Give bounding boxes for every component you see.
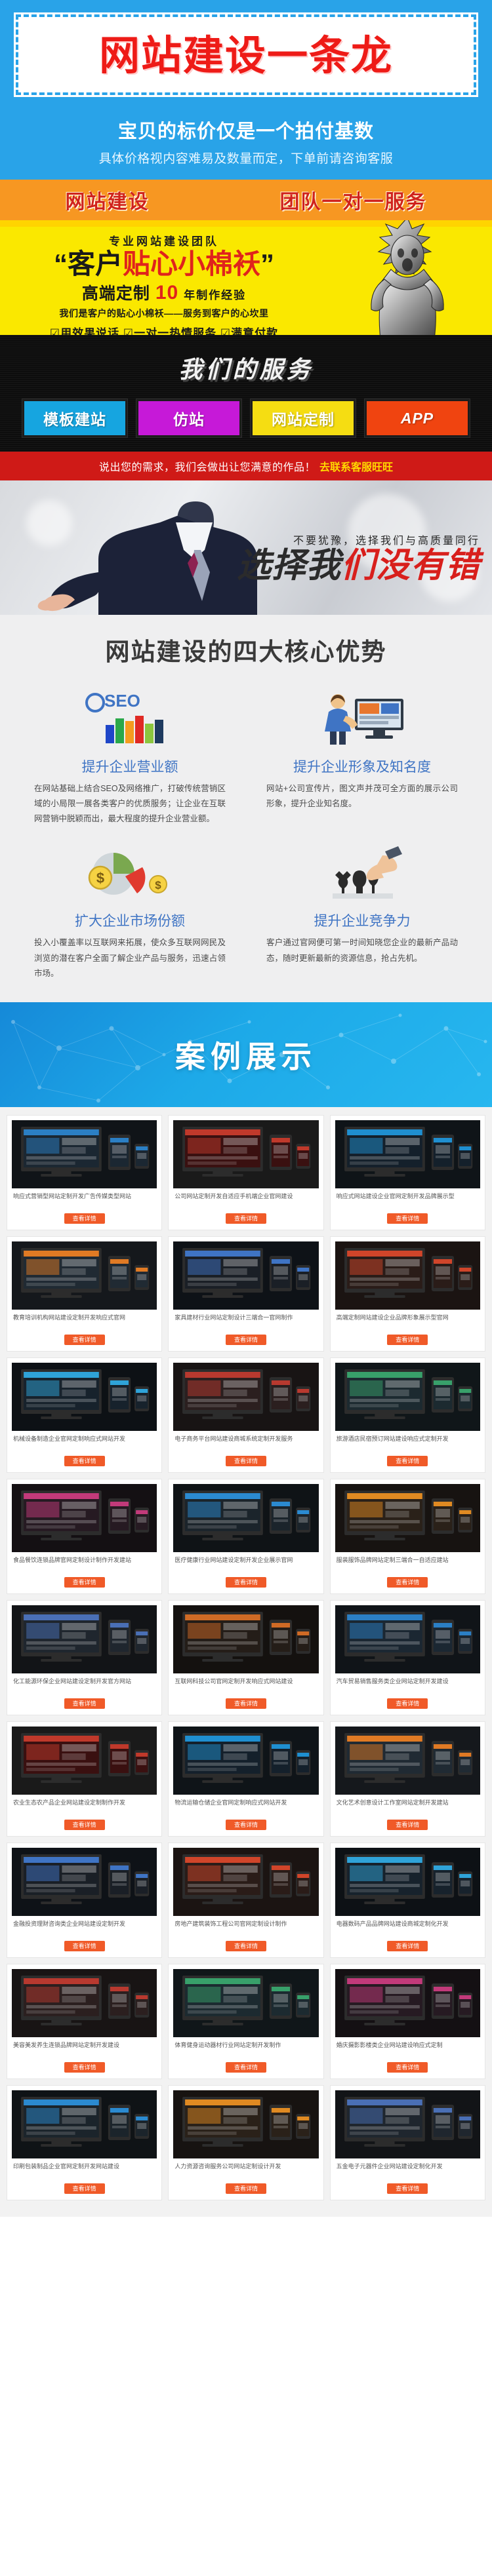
case-detail-button[interactable]: 查看详情 — [226, 1577, 266, 1588]
promo-page: 网站建设一条龙 宝贝的标价仅是一个拍付基数 具体价格视内容难易及数量而定，下单前… — [0, 0, 492, 2217]
promo-slogan-dark: 客户 — [68, 248, 123, 279]
case-screenshot — [12, 1848, 157, 1916]
case-description: 响应式营销型网站定制开发广告传媒类型网站 — [13, 1192, 155, 1209]
case-detail-button[interactable]: 查看详情 — [226, 1456, 266, 1466]
case-screenshot — [173, 1848, 318, 1916]
yellow-promo-section: 专业网站建设团队 “客户贴心小棉袄” 高端定制 10 年制作经验 我们是客户的贴… — [0, 220, 492, 335]
case-description: 家具建材行业网站定制设计三端合一官网制作 — [174, 1314, 317, 1331]
case-screenshot — [173, 2090, 318, 2158]
case-description: 教育培训机构网站建设定制开发响应式官网 — [13, 1314, 155, 1331]
case-row: 食品餐饮连锁品牌官网定制设计制作开发建站查看详情医疗健康行业网站建设定制开发企业… — [7, 1479, 485, 1594]
svg-text:$: $ — [155, 879, 161, 891]
monitor-person-icon — [249, 684, 475, 747]
advantages-section: 网站建设的四大核心优势 SEO 提升企业营业额 在网站基 — [0, 615, 492, 1002]
case-screenshot — [12, 1969, 157, 2037]
case-card[interactable]: 房地产建筑装饰工程公司官网定制设计制作查看详情 — [168, 1843, 323, 1958]
cta-strip: 说出您的需求，我们会做出让您满意的作品！ 去联系客服旺旺 — [0, 452, 492, 480]
case-card[interactable]: 医疗健康行业网站建设定制开发企业展示官网查看详情 — [168, 1479, 323, 1594]
case-card[interactable]: 汽车贸易销售服务类企业网站定制开发建设查看详情 — [330, 1600, 485, 1715]
cases-grid-section: 响应式营销型网站定制开发广告传媒类型网站查看详情公司网站定制开发自适应手机端企业… — [0, 1107, 492, 2217]
case-detail-button[interactable]: 查看详情 — [64, 1820, 105, 1830]
promo-slogan: “客户贴心小棉袄” — [26, 249, 302, 279]
case-description: 美容美发养生连锁品牌网站定制开发建设 — [13, 2041, 155, 2058]
promo-custom-label: 高端定制 — [82, 284, 150, 303]
case-screenshot — [12, 1241, 157, 1310]
case-description: 公司网站定制开发自适应手机端企业官网建设 — [174, 1192, 317, 1209]
cases-header: 案例展示 — [0, 1002, 492, 1107]
case-row: 农业生态农产品企业网站建设定制制作开发查看详情物流运输仓储企业官网定制响应式网站… — [7, 1721, 485, 1837]
case-detail-button[interactable]: 查看详情 — [64, 1335, 105, 1345]
hero-title: 选择我们没有错 — [172, 549, 480, 583]
case-description: 体育健身运动器材行业网站定制开发制作 — [174, 2041, 317, 2058]
promo-check-2: ☑一对一热情服务 — [123, 327, 216, 335]
case-detail-button[interactable]: 查看详情 — [64, 1698, 105, 1709]
case-description: 响应式网站建设企业官网定制开发品牌展示型 — [337, 1192, 479, 1209]
case-screenshot — [173, 1969, 318, 2037]
case-screenshot — [173, 1241, 318, 1310]
hero-banner: 不要犹豫，选择我们与高质量同行 选择我们没有错 — [0, 480, 492, 615]
case-card[interactable]: 高端定制网站建设企业品牌形象展示型官网查看详情 — [330, 1236, 485, 1352]
case-screenshot — [335, 1969, 480, 2037]
case-screenshot — [12, 1120, 157, 1188]
advantage-title: 提升企业竞争力 — [249, 910, 475, 930]
case-description: 五金电子元器件企业网站建设定制化开发 — [337, 2162, 479, 2179]
promo-years-number: 10 — [155, 282, 178, 303]
advantage-title: 提升企业形象及知名度 — [249, 756, 475, 776]
case-detail-button[interactable]: 查看详情 — [387, 1820, 428, 1830]
promo-quote-open: “ — [54, 248, 68, 279]
service-button-template[interactable]: 模板建站 — [22, 399, 127, 437]
feature-web-build: 网站建设 — [66, 185, 150, 214]
case-detail-button[interactable]: 查看详情 — [64, 2062, 105, 2073]
advantage-title: 提升企业营业额 — [17, 756, 243, 776]
advantage-item: SEO 提升企业营业额 在网站基础上结合SEO及网络推广，打破传统营销区域的小局… — [17, 684, 243, 827]
case-screenshot — [173, 1363, 318, 1431]
page-title: 网站建设一条龙 — [25, 34, 467, 77]
service-button-custom[interactable]: 网站定制 — [251, 399, 356, 437]
hero-title-red: 们没有错 — [341, 547, 480, 585]
svg-text:$: $ — [96, 870, 104, 886]
case-row: 化工能源环保企业网站建设定制开发官方网站查看详情互联网科技公司官网定制开发响应式… — [7, 1600, 485, 1715]
case-detail-button[interactable]: 查看详情 — [226, 1820, 266, 1830]
case-detail-button[interactable]: 查看详情 — [387, 1941, 428, 1951]
case-detail-button[interactable]: 查看详情 — [226, 1698, 266, 1709]
chess-hand-icon — [249, 838, 475, 901]
case-description: 房地产建筑装饰工程公司官网定制设计制作 — [174, 1920, 317, 1937]
feature-one-on-one: 团队一对一服务 — [280, 185, 427, 214]
promo-checklist: ☑用效果说话 ☑一对一热情服务 ☑满意付款 — [26, 324, 302, 335]
promo-years-label: 年制作经验 — [184, 289, 246, 302]
case-detail-button[interactable]: 查看详情 — [387, 1698, 428, 1709]
case-screenshot — [335, 2090, 480, 2158]
case-card[interactable]: 金融投资理财咨询类企业网站建设定制开发查看详情 — [7, 1843, 162, 1958]
case-card[interactable]: 互联网科技公司官网定制开发响应式网站建设查看详情 — [168, 1600, 323, 1715]
statue-of-liberty-icon — [345, 220, 470, 335]
case-description: 机械设备制造企业官网定制响应式网站开发 — [13, 1435, 155, 1452]
case-card[interactable]: 印刷包装制品企业官网定制开发网站建设查看详情 — [7, 2085, 162, 2200]
case-description: 电子商务平台网站建设商城系统定制开发服务 — [174, 1435, 317, 1452]
promo-team-label: 专业网站建设团队 — [26, 232, 302, 248]
cases-heading: 案例展示 — [175, 1033, 317, 1076]
case-screenshot — [12, 1727, 157, 1795]
case-detail-button[interactable]: 查看详情 — [64, 1456, 105, 1466]
case-detail-button[interactable]: 查看详情 — [226, 2183, 266, 2194]
case-description: 电器数码产品品牌网站建设商城定制化开发 — [337, 1920, 479, 1937]
case-screenshot — [173, 1484, 318, 1552]
advantages-heading: 网站建设的四大核心优势 — [0, 632, 492, 667]
case-detail-button[interactable]: 查看详情 — [64, 1213, 105, 1224]
case-card[interactable]: 文化艺术创意设计工作室网站定制开发建站查看详情 — [330, 1721, 485, 1837]
case-description: 旅游酒店民宿预订网站建设响应式定制开发 — [337, 1435, 479, 1452]
case-screenshot — [335, 1241, 480, 1310]
case-description: 服装服饰品牌网站定制三端合一自适应建站 — [337, 1556, 479, 1573]
case-card[interactable]: 电器数码产品品牌网站建设商城定制化开发查看详情 — [330, 1843, 485, 1958]
advantage-desc: 投入小覆盖率以互联网来拓展，使众多互联网网民及浏览的潜在客户全面了解企业产品与服… — [17, 935, 243, 981]
case-card[interactable]: 响应式网站建设企业官网定制开发品牌展示型查看详情 — [330, 1115, 485, 1230]
case-description: 化工能源环保企业网站建设定制开发官方网站 — [13, 1677, 155, 1694]
case-description: 婚庆摄影影楼类企业网站建设响应式定制 — [337, 2041, 479, 2058]
service-button-clone[interactable]: 仿站 — [136, 399, 241, 437]
case-screenshot — [12, 2090, 157, 2158]
seo-chart-icon: SEO — [17, 684, 243, 747]
services-heading: 我们的服务 — [0, 351, 492, 385]
case-card[interactable]: 机械设备制造企业官网定制响应式网站开发查看详情 — [7, 1357, 162, 1473]
case-card[interactable]: 婚庆摄影影楼类企业网站建设响应式定制查看详情 — [330, 1964, 485, 2079]
case-card[interactable]: 响应式营销型网站定制开发广告传媒类型网站查看详情 — [7, 1115, 162, 1230]
case-description: 互联网科技公司官网定制开发响应式网站建设 — [174, 1677, 317, 1694]
case-detail-button[interactable]: 查看详情 — [64, 1941, 105, 1951]
case-card[interactable]: 家具建材行业网站定制设计三端合一官网制作查看详情 — [168, 1236, 323, 1352]
orange-feature-bar: 网站建设 团队一对一服务 — [0, 180, 492, 220]
case-detail-button[interactable]: 查看详情 — [64, 2183, 105, 2194]
case-card[interactable]: 农业生态农产品企业网站建设定制制作开发查看详情 — [7, 1721, 162, 1837]
cta-contact-link[interactable]: 去联系客服旺旺 — [319, 458, 393, 474]
case-card[interactable]: 食品餐饮连锁品牌官网定制设计制作开发建站查看详情 — [7, 1479, 162, 1594]
case-description: 食品餐饮连锁品牌官网定制设计制作开发建站 — [13, 1556, 155, 1573]
promo-experience: 高端定制 10 年制作经验 — [26, 281, 302, 304]
case-screenshot — [12, 1605, 157, 1673]
case-detail-button[interactable]: 查看详情 — [387, 1577, 428, 1588]
money-pie-icon: $ $ — [17, 838, 243, 901]
advantages-grid: SEO 提升企业营业额 在网站基础上结合SEO及网络推广，打破传统营销区域的小局… — [0, 684, 492, 981]
case-description: 高端定制网站建设企业品牌形象展示型官网 — [337, 1314, 479, 1331]
case-detail-button[interactable]: 查看详情 — [226, 1941, 266, 1951]
case-detail-button[interactable]: 查看详情 — [226, 2062, 266, 2073]
advantage-item: 提升企业竞争力 客户通过官网便可第一时间知晓您企业的最新产品动态，随时更新最新的… — [249, 838, 475, 981]
case-card[interactable]: 电子商务平台网站建设商城系统定制开发服务查看详情 — [168, 1357, 323, 1473]
case-row: 教育培训机构网站建设定制开发响应式官网查看详情家具建材行业网站定制设计三端合一官… — [7, 1236, 485, 1352]
case-card[interactable]: 美容美发养生连锁品牌网站定制开发建设查看详情 — [7, 1964, 162, 2079]
case-screenshot — [173, 1727, 318, 1795]
case-row: 响应式营销型网站定制开发广告传媒类型网站查看详情公司网站定制开发自适应手机端企业… — [7, 1115, 485, 1230]
case-description: 物流运输仓储企业官网定制响应式网站开发 — [174, 1799, 317, 1816]
case-detail-button[interactable]: 查看详情 — [387, 2062, 428, 2073]
case-screenshot — [335, 1484, 480, 1552]
case-card[interactable]: 公司网站定制开发自适应手机端企业官网建设查看详情 — [168, 1115, 323, 1230]
case-card[interactable]: 化工能源环保企业网站建设定制开发官方网站查看详情 — [7, 1600, 162, 1715]
hero-title-dark: 选择我 — [237, 547, 341, 585]
top-banner: 网站建设一条龙 — [0, 0, 492, 112]
case-description: 人力资源咨询服务公司网站定制设计开发 — [174, 2162, 317, 2179]
case-detail-button[interactable]: 查看详情 — [387, 2183, 428, 2194]
pricing-note: 宝贝的标价仅是一个拍付基数 具体价格视内容难易及数量而定，下单前请咨询客服 — [0, 112, 492, 180]
case-description: 农业生态农产品企业网站建设定制制作开发 — [13, 1799, 155, 1816]
case-detail-button[interactable]: 查看详情 — [64, 1577, 105, 1588]
case-description: 金融投资理财咨询类企业网站建设定制开发 — [13, 1920, 155, 1937]
services-button-row: 模板建站 仿站 网站定制 APP — [0, 399, 492, 437]
hero-text-block: 不要犹豫，选择我们与高质量同行 选择我们没有错 — [172, 532, 480, 583]
case-card[interactable]: 教育培训机构网站建设定制开发响应式官网查看详情 — [7, 1236, 162, 1352]
case-screenshot — [12, 1363, 157, 1431]
advantage-desc: 网站+公司宣传片，图文声并茂可全方面的展示公司形象，提升企业知名度。 — [249, 781, 475, 811]
case-detail-button[interactable]: 查看详情 — [226, 1213, 266, 1224]
case-detail-button[interactable]: 查看详情 — [387, 1456, 428, 1466]
service-button-app[interactable]: APP — [365, 399, 470, 437]
promo-check-3: ☑满意付款 — [220, 327, 278, 335]
pricing-note-line1: 宝贝的标价仅是一个拍付基数 — [0, 116, 492, 144]
advantage-desc: 客户通过官网便可第一时间知晓您企业的最新产品动态，随时更新最新的资源信息，抢占先… — [249, 935, 475, 966]
promo-slogan-red: 贴心小棉袄 — [123, 248, 260, 279]
promo-quote-close: ” — [260, 248, 274, 279]
pricing-note-line2: 具体价格视内容难易及数量而定，下单前请咨询客服 — [0, 149, 492, 166]
advantage-item: $ $ 扩大企业市场份额 投入小覆盖率以互联网来拓展，使众多互联网网民及浏览的潜… — [17, 838, 243, 981]
case-screenshot — [335, 1848, 480, 1916]
case-row: 印刷包装制品企业官网定制开发网站建设查看详情人力资源咨询服务公司网站定制设计开发… — [7, 2085, 485, 2200]
case-screenshot — [173, 1605, 318, 1673]
cta-text: 说出您的需求，我们会做出让您满意的作品！ — [99, 458, 316, 474]
case-description: 文化艺术创意设计工作室网站定制开发建站 — [337, 1799, 479, 1816]
case-detail-button[interactable]: 查看详情 — [387, 1335, 428, 1345]
case-card[interactable]: 物流运输仓储企业官网定制响应式网站开发查看详情 — [168, 1721, 323, 1837]
svg-text:SEO: SEO — [104, 691, 140, 711]
hero-subtitle: 不要犹豫，选择我们与高质量同行 — [172, 532, 480, 547]
advantage-desc: 在网站基础上结合SEO及网络推广，打破传统营销区域的小局限一展各类客户的优质服务… — [17, 781, 243, 827]
case-description: 印刷包装制品企业官网定制开发网站建设 — [13, 2162, 155, 2179]
case-detail-button[interactable]: 查看详情 — [226, 1335, 266, 1345]
case-detail-button[interactable]: 查看详情 — [387, 1213, 428, 1224]
case-row: 金融投资理财咨询类企业网站建设定制开发查看详情房地产建筑装饰工程公司官网定制设计… — [7, 1843, 485, 1958]
case-card[interactable]: 体育健身运动器材行业网站定制开发制作查看详情 — [168, 1964, 323, 2079]
case-row: 美容美发养生连锁品牌网站定制开发建设查看详情体育健身运动器材行业网站定制开发制作… — [7, 1964, 485, 2079]
case-description: 医疗健康行业网站建设定制开发企业展示官网 — [174, 1556, 317, 1573]
case-card[interactable]: 服装服饰品牌网站定制三端合一自适应建站查看详情 — [330, 1479, 485, 1594]
advantage-item: 提升企业形象及知名度 网站+公司宣传片，图文声并茂可全方面的展示公司形象，提升企… — [249, 684, 475, 827]
services-section: 我们的服务 模板建站 仿站 网站定制 APP — [0, 335, 492, 452]
case-card[interactable]: 人力资源咨询服务公司网站定制设计开发查看详情 — [168, 2085, 323, 2200]
case-screenshot — [173, 1120, 318, 1188]
case-card[interactable]: 旅游酒店民宿预订网站建设响应式定制开发查看详情 — [330, 1357, 485, 1473]
case-description: 汽车贸易销售服务类企业网站定制开发建设 — [337, 1677, 479, 1694]
case-row: 机械设备制造企业官网定制响应式网站开发查看详情电子商务平台网站建设商城系统定制开… — [7, 1357, 485, 1473]
case-screenshot — [335, 1363, 480, 1431]
promo-tagline: 我们是客户的贴心小棉袄——服务到客户的心坎里 — [26, 307, 302, 320]
advantage-title: 扩大企业市场份额 — [17, 910, 243, 930]
promo-check-1: ☑用效果说话 — [50, 327, 119, 335]
title-card: 网站建设一条龙 — [16, 14, 476, 95]
promo-text-block: 专业网站建设团队 “客户贴心小棉袄” 高端定制 10 年制作经验 我们是客户的贴… — [26, 232, 302, 335]
case-card[interactable]: 五金电子元器件企业网站建设定制化开发查看详情 — [330, 2085, 485, 2200]
case-screenshot — [12, 1484, 157, 1552]
case-screenshot — [335, 1727, 480, 1795]
case-screenshot — [335, 1120, 480, 1188]
case-screenshot — [335, 1605, 480, 1673]
